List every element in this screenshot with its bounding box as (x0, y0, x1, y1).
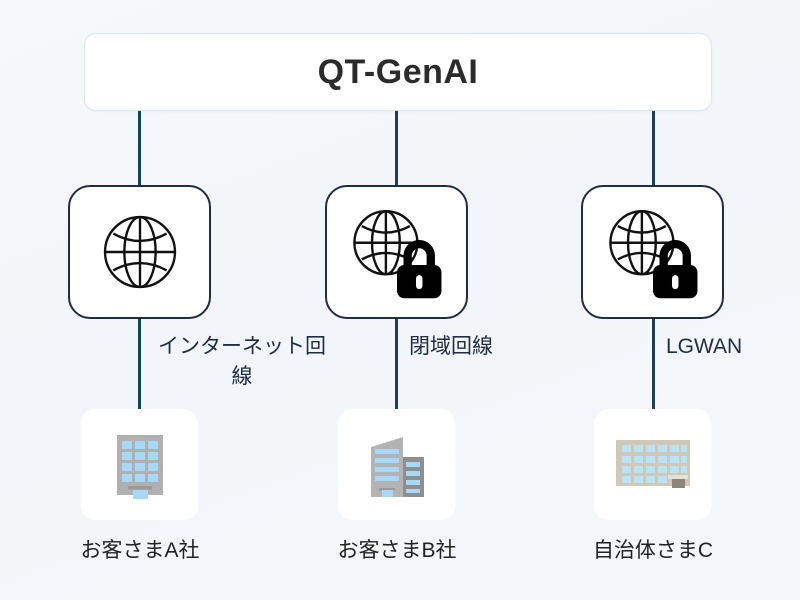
network-card-internet[interactable] (68, 185, 211, 319)
link-label-lgwan: LGWAN (666, 332, 786, 362)
globe-icon (94, 206, 186, 298)
network-card-lgwan[interactable] (581, 185, 724, 319)
padlock-glyph (653, 240, 697, 298)
customer-label-a: お客さまA社 (20, 534, 260, 564)
globe-lock-icon (345, 202, 449, 302)
service-title-box: QT-GenAI (84, 33, 712, 111)
building-card-municipality-c[interactable] (594, 409, 711, 520)
customer-label-c: 自治体さまC (533, 534, 773, 564)
link-label-internet: インターネット回線 (152, 332, 332, 392)
building-card-customer-b[interactable] (338, 409, 455, 520)
office-building-icon (103, 427, 177, 503)
building-card-customer-a[interactable] (81, 409, 198, 520)
office-complex-icon (358, 427, 436, 503)
padlock-glyph (397, 240, 441, 298)
diagram-canvas: QT-GenAI (0, 0, 800, 600)
network-card-closed-line[interactable] (325, 185, 468, 319)
government-building-icon (612, 435, 694, 495)
globe-lock-icon (601, 202, 705, 302)
customer-label-b: お客さまB社 (277, 534, 517, 564)
page-title: QT-GenAI (318, 53, 479, 92)
link-label-closed-line: 閉域回線 (409, 332, 529, 362)
